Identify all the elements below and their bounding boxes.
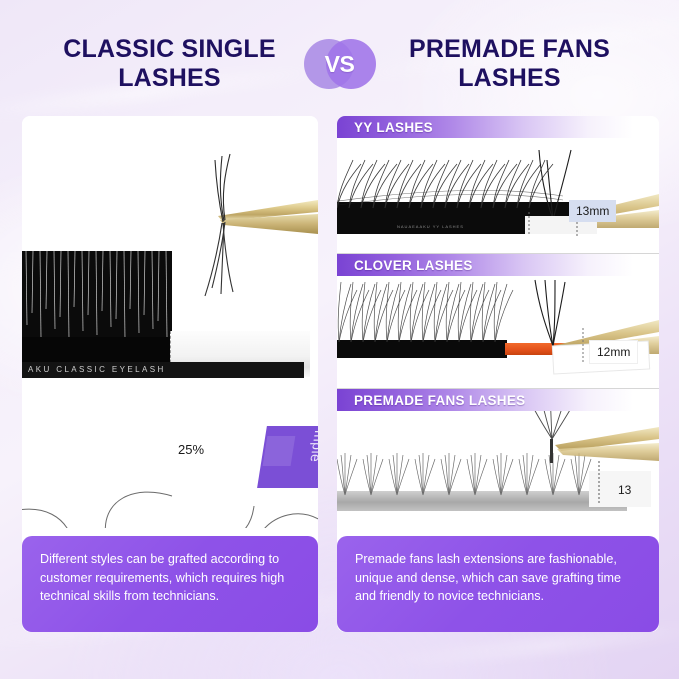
premade-fans-header-label: PREMADE FANS LASHES xyxy=(337,393,525,408)
premade-measurement-badge: 13 xyxy=(611,479,638,501)
premade-caption: Premade fans lash extensions are fashion… xyxy=(337,536,659,632)
card-divider xyxy=(337,388,659,389)
premade-fans-card: 13 PREMADE FANS LASHES xyxy=(337,389,659,532)
classic-caption: Different styles can be grafted accordin… xyxy=(22,536,318,632)
right-panel-title: PREMADE FANS LASHES xyxy=(376,35,644,93)
clover-lashes-card: 12mm CLOVER LASHES xyxy=(337,254,659,389)
vs-badge: VS xyxy=(304,38,376,90)
card-divider xyxy=(337,253,659,254)
clover-lashes-header-label: CLOVER LASHES xyxy=(337,258,473,273)
yy-lashes-header-label: YY LASHES xyxy=(337,120,433,135)
premade-fans-header: PREMADE FANS LASHES xyxy=(337,389,659,411)
single-lash-curves xyxy=(22,388,318,528)
left-panel-title: CLASSIC SINGLE LASHES xyxy=(36,35,304,93)
classic-lashes-photo: AKU CLASSIC EYELASH 25% mple xyxy=(22,116,318,531)
clover-measurement-badge: 12mm xyxy=(589,340,638,364)
yy-measurement-badge: 13mm xyxy=(569,200,616,222)
yy-lashes-header: YY LASHES xyxy=(337,116,659,138)
comparison-header: CLASSIC SINGLE LASHES VS PREMADE FANS LA… xyxy=(0,28,679,100)
yy-lashes-card: NAUAEAAKU YY LASHES 13mm YY LASHES xyxy=(337,116,659,254)
yy-tray-microtext: NAUAEAAKU YY LASHES xyxy=(397,224,464,229)
clover-lashes-header: CLOVER LASHES xyxy=(337,254,659,276)
tray-brand-label: AKU CLASSIC EYELASH xyxy=(22,362,304,378)
classic-lash-tray xyxy=(22,251,172,371)
vs-label: VS xyxy=(325,51,355,78)
